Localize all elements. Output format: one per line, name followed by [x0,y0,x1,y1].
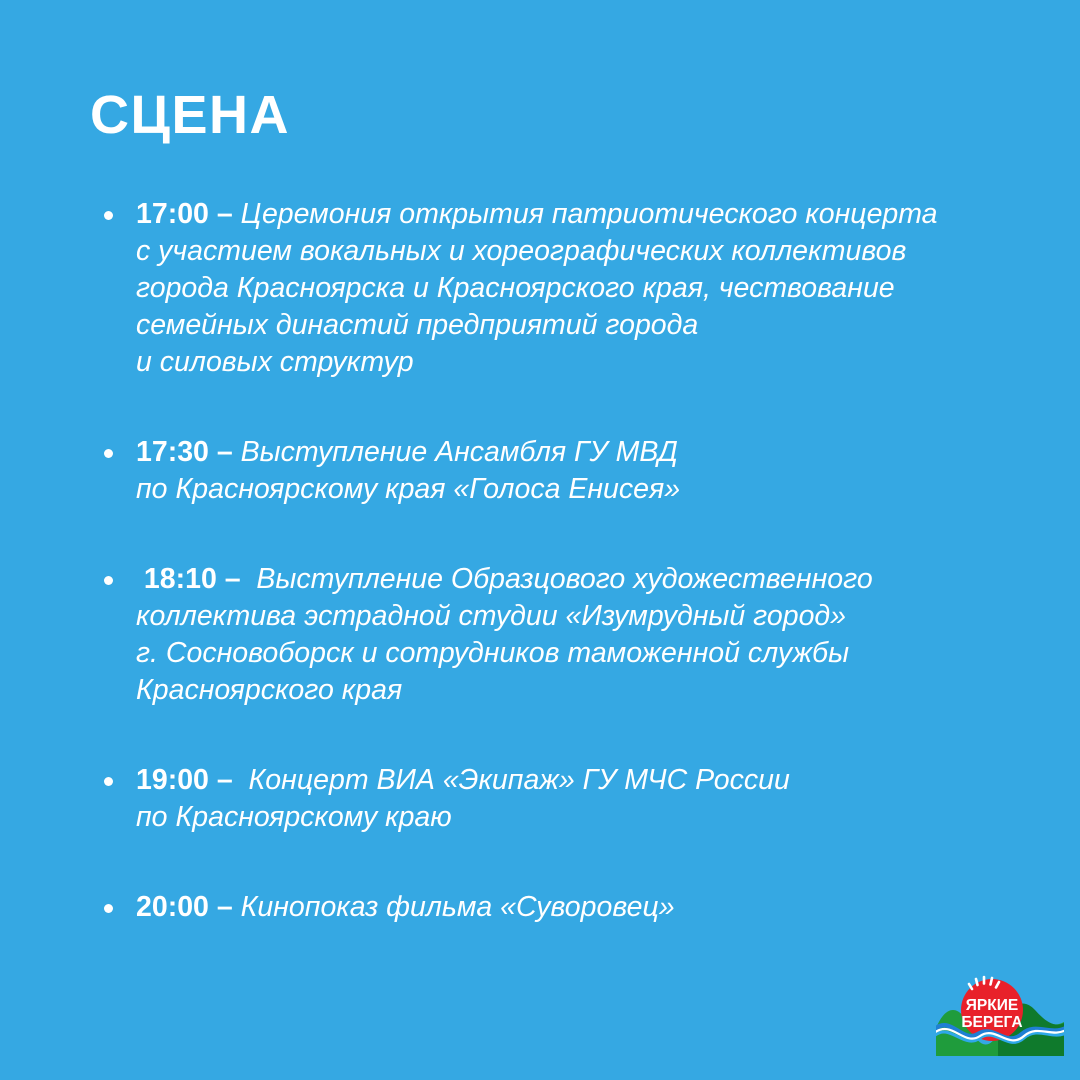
logo-text-top: ЯРКИЕ [966,997,1018,1014]
schedule-item-description: Кинопоказ фильма «Суворовец» [241,891,675,923]
schedule-item: 20:00 – Кинопоказ фильма «Суворовец» [96,889,1026,926]
schedule-item-time: 18:10 [136,563,217,595]
yarkie-berega-logo: ЯРКИЕ БЕРЕГА [936,970,1064,1056]
poster-canvas: СЦЕНА 17:00 – Церемония открытия патриот… [0,0,1080,1080]
schedule-item-time: 17:00 [136,198,209,230]
schedule-line: города Красноярска и Красноярского края,… [136,270,1026,307]
schedule-item-dash: – [209,436,241,468]
schedule-list: 17:00 – Церемония открытия патриотическо… [96,196,1026,926]
schedule-line: с участием вокальных и хореографических … [136,233,1026,270]
schedule-item-description: Выступление Образцового художественногок… [136,563,1026,709]
schedule-item-dash: – [209,198,241,230]
page-title: СЦЕНА [90,88,290,142]
schedule-line: г. Сосновоборск и сотрудников таможенной… [136,635,1026,672]
logo-graphic: ЯРКИЕ БЕРЕГА [936,970,1064,1056]
schedule-item-body: 20:00 – Кинопоказ фильма «Суворовец» [136,889,1026,926]
bullet-dot-icon [104,777,113,786]
schedule-item-body: 17:00 – Церемония открытия патриотическо… [136,196,1026,381]
schedule-item-dash: – [209,891,241,923]
schedule-item-body: 17:30 – Выступление Ансамбля ГУ МВДпо Кр… [136,434,1026,508]
schedule-item: 17:30 – Выступление Ансамбля ГУ МВДпо Кр… [96,434,1026,508]
schedule-item-time: 17:30 [136,436,209,468]
bullet-dot-icon [104,211,113,220]
schedule-line: Выступление Ансамбля ГУ МВД [241,436,678,468]
schedule-item-body: 18:10 – Выступление Образцового художест… [136,561,1026,709]
schedule-item: 17:00 – Церемония открытия патриотическо… [96,196,1026,381]
schedule-item: 19:00 – Концерт ВИА «Экипаж» ГУ МЧС Росс… [96,762,1026,836]
schedule-item-body: 19:00 – Концерт ВИА «Экипаж» ГУ МЧС Росс… [136,762,1026,836]
schedule-item-description: Церемония открытия патриотического конце… [136,198,1026,381]
schedule-item-dash: – [209,764,249,796]
schedule-line: Красноярского края [136,672,1026,709]
schedule-item-time: 19:00 [136,764,209,796]
schedule-line: Выступление Образцового художественного [256,563,872,595]
schedule-item-description: Концерт ВИА «Экипаж» ГУ МЧС Россиипо Кра… [136,764,1026,836]
logo-text-bottom: БЕРЕГА [961,1014,1022,1031]
schedule-item-dash: – [217,563,257,595]
schedule-item-time: 20:00 [136,891,209,923]
schedule-item-description: Выступление Ансамбля ГУ МВДпо Красноярск… [136,436,1026,508]
schedule-line: коллектива эстрадной студии «Изумрудный … [136,598,1026,635]
schedule-line: Кинопоказ фильма «Суворовец» [241,891,675,923]
schedule-line: Концерт ВИА «Экипаж» ГУ МЧС России [249,764,790,796]
schedule-line: семейных династий предприятий города [136,307,1026,344]
bullet-dot-icon [104,904,113,913]
bullet-dot-icon [104,449,113,458]
schedule-line: по Красноярскому краю [136,799,1026,836]
bullet-dot-icon [104,576,113,585]
schedule-line: по Красноярскому края «Голоса Енисея» [136,471,1026,508]
schedule-item: 18:10 – Выступление Образцового художест… [96,561,1026,709]
schedule-line: и силовых структур [136,344,1026,381]
schedule-line: Церемония открытия патриотического конце… [241,198,938,230]
